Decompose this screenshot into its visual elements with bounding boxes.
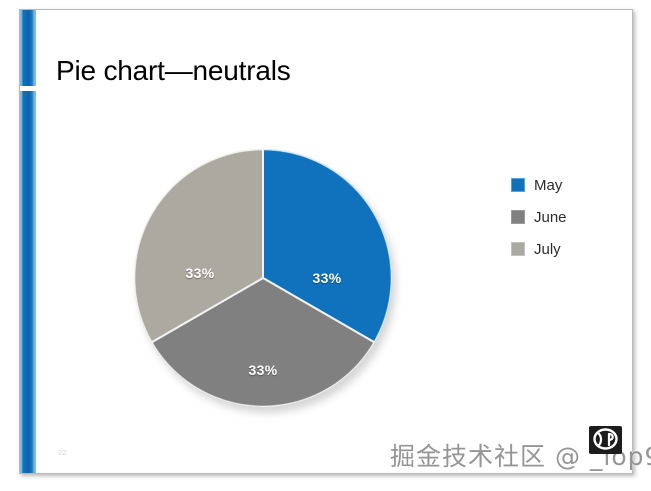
legend-swatch-july xyxy=(511,242,525,256)
slide-page-number: 22 xyxy=(58,450,67,457)
chart-legend: May June July xyxy=(511,169,621,265)
legend-item-july[interactable]: July xyxy=(511,233,621,265)
legend-label-may: May xyxy=(534,177,562,194)
slice-label-may: 33% xyxy=(313,270,342,286)
legend-item-may[interactable]: May xyxy=(511,169,621,201)
slice-label-june: 33% xyxy=(249,362,278,378)
presentation-slide: Pie chart—neutrals 33% 33% xyxy=(19,9,633,474)
legend-item-june[interactable]: June xyxy=(511,201,621,233)
page-canvas: Pie chart—neutrals 33% 33% xyxy=(0,0,651,491)
page-title: Pie chart—neutrals xyxy=(56,54,291,88)
legend-label-july: July xyxy=(534,241,561,258)
legend-swatch-june xyxy=(511,210,525,224)
pie-graphic: 33% 33% 33% xyxy=(134,149,400,415)
accent-bar-top xyxy=(20,10,36,86)
hp-logo xyxy=(589,426,622,454)
legend-swatch-may xyxy=(511,178,525,192)
pie-chart: 33% 33% 33% May June July xyxy=(20,120,632,450)
slice-label-july: 33% xyxy=(186,265,215,281)
legend-label-june: June xyxy=(534,209,567,226)
